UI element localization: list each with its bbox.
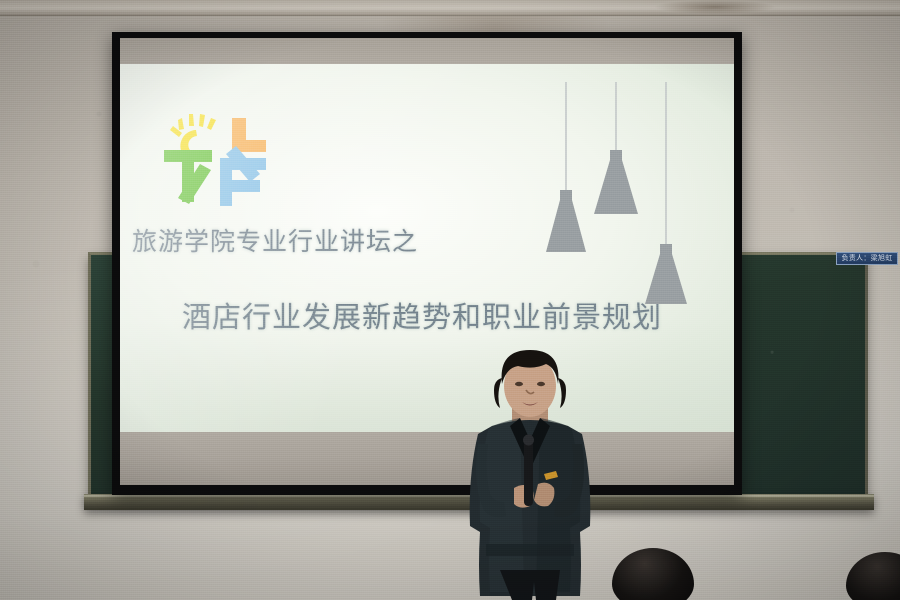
presenter-figure <box>440 348 620 600</box>
microphone-head <box>523 435 534 446</box>
projected-slide: 旅游学院专业行业讲坛之 酒店行业发展新趋势和职业前景规划 <box>120 64 734 432</box>
duty-roster-sign: 负责人：梁旭虹 <box>836 252 898 265</box>
presenter-hair-right <box>558 378 566 408</box>
projection-glare <box>120 64 734 432</box>
lecture-hall-photo: 负责人：梁旭虹 <box>0 0 900 600</box>
screen-unlit-top <box>120 38 734 64</box>
presenter-jacket-hem <box>486 544 574 556</box>
duty-sign-text: 负责人：梁旭虹 <box>841 255 892 262</box>
projection-screen-frame: 旅游学院专业行业讲坛之 酒店行业发展新趋势和职业前景规划 <box>112 32 742 495</box>
lintel-smudge <box>655 0 775 14</box>
presenter-hair-left <box>494 378 502 408</box>
projection-screen-surface: 旅游学院专业行业讲坛之 酒店行业发展新趋势和职业前景规划 <box>120 38 734 485</box>
ceiling-lintel <box>0 0 900 16</box>
microphone <box>524 440 533 506</box>
